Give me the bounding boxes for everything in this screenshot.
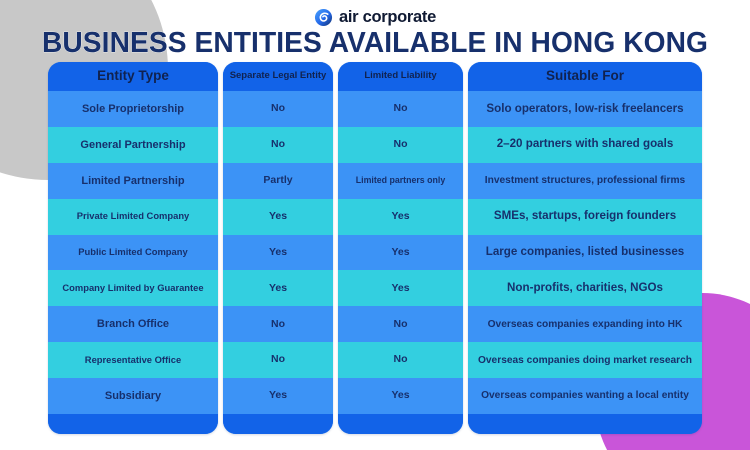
table-cell: Overseas companies wanting a local entit… (468, 378, 702, 414)
table-cell: Large companies, listed businesses (468, 235, 702, 271)
table-cell: Yes (223, 270, 333, 306)
table-cell: Subsidiary (48, 378, 218, 414)
table-cell: Yes (223, 199, 333, 235)
table-cell: Company Limited by Guarantee (48, 270, 218, 306)
column-header-limited-liability: Limited Liability (338, 62, 463, 91)
column-cells-suitable-for: Solo operators, low-risk freelancers 2–2… (468, 91, 702, 414)
table-cell: No (338, 91, 463, 127)
column-footer (468, 414, 702, 434)
table-cell: Yes (338, 378, 463, 414)
table-cell: Sole Proprietorship (48, 91, 218, 127)
table-cell: Limited Partnership (48, 163, 218, 199)
column-footer (48, 414, 218, 434)
infographic-canvas: air corporate BUSINESS ENTITIES AVAILABL… (0, 0, 750, 450)
column-footer (338, 414, 463, 434)
table-cell: 2–20 partners with shared goals (468, 127, 702, 163)
table-cell: Yes (338, 270, 463, 306)
table-column-separate-legal-entity: Separate Legal Entity No No Partly Yes Y… (223, 62, 333, 434)
table-cell: Investment structures, professional firm… (468, 163, 702, 199)
table-cell: Overseas companies expanding into HK (468, 306, 702, 342)
comparison-table: Entity Type Sole Proprietorship General … (48, 62, 702, 434)
table-cell: Yes (338, 235, 463, 271)
table-column-limited-liability: Limited Liability No No Limited partners… (338, 62, 463, 434)
table-cell: Yes (223, 378, 333, 414)
table-cell: Private Limited Company (48, 199, 218, 235)
table-cell: SMEs, startups, foreign founders (468, 199, 702, 235)
table-column-suitable-for: Suitable For Solo operators, low-risk fr… (468, 62, 702, 434)
table-cell: No (223, 91, 333, 127)
page-title: BUSINESS ENTITIES AVAILABLE IN HONG KONG (11, 28, 739, 58)
table-cell: No (223, 127, 333, 163)
table-cell: Solo operators, low-risk freelancers (468, 91, 702, 127)
table-cell: Representative Office (48, 342, 218, 378)
table-cell: No (223, 342, 333, 378)
table-cell: General Partnership (48, 127, 218, 163)
table-cell: No (338, 342, 463, 378)
column-cells-separate-legal-entity: No No Partly Yes Yes Yes No No Yes (223, 91, 333, 414)
column-cells-limited-liability: No No Limited partners only Yes Yes Yes … (338, 91, 463, 414)
column-footer (223, 414, 333, 434)
brand-lockup: air corporate (0, 6, 750, 28)
table-cell: Partly (223, 163, 333, 199)
table-cell: No (338, 306, 463, 342)
table-cell: Yes (338, 199, 463, 235)
air-corporate-logo-icon (314, 8, 333, 27)
table-cell: Branch Office (48, 306, 218, 342)
table-column-entity-type: Entity Type Sole Proprietorship General … (48, 62, 218, 434)
table-cell: Overseas companies doing market research (468, 342, 702, 378)
table-cell: Non-profits, charities, NGOs (468, 270, 702, 306)
table-cell: No (223, 306, 333, 342)
column-header-entity-type: Entity Type (48, 62, 218, 91)
table-cell: No (338, 127, 463, 163)
table-cell: Limited partners only (338, 163, 463, 199)
table-cell: Public Limited Company (48, 235, 218, 271)
brand-name: air corporate (339, 9, 436, 26)
table-cell: Yes (223, 235, 333, 271)
column-header-separate-legal-entity: Separate Legal Entity (223, 62, 333, 91)
column-cells-entity-type: Sole Proprietorship General Partnership … (48, 91, 218, 414)
column-header-suitable-for: Suitable For (468, 62, 702, 91)
